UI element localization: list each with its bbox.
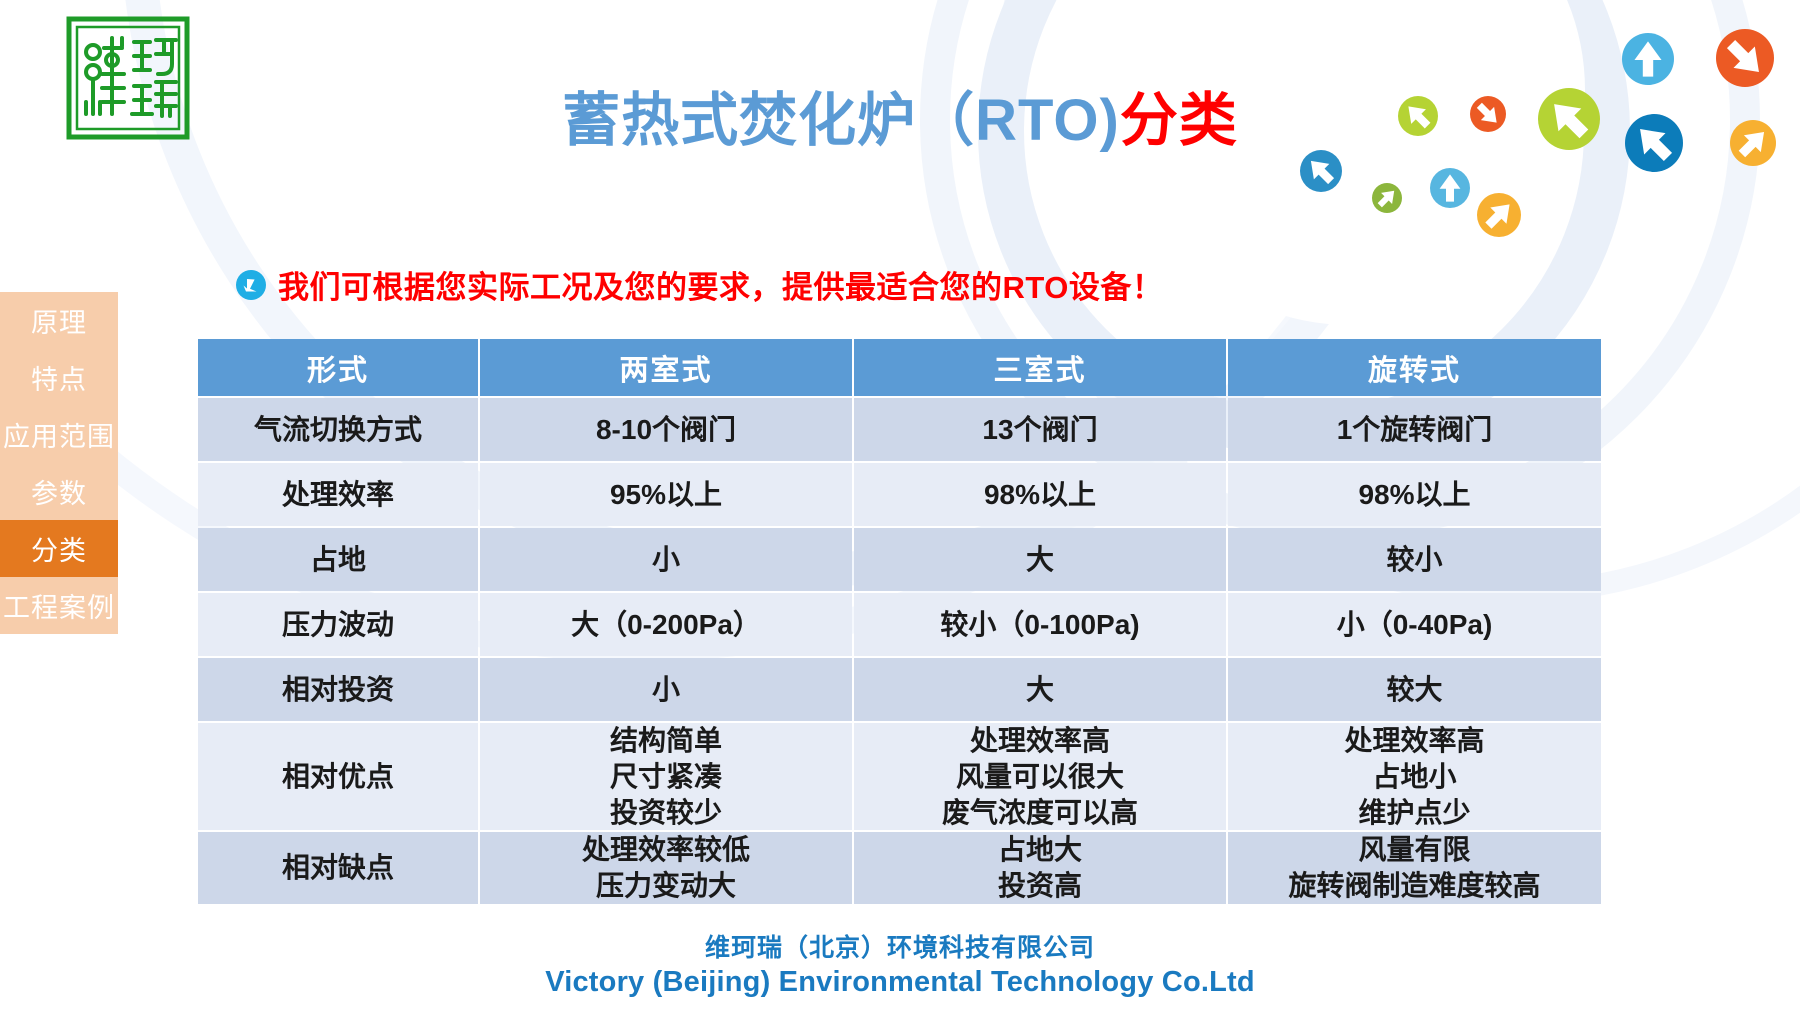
sidebar-item-label: 原理 [31,301,87,340]
table-cell-line: 处理效率高 [1234,723,1595,759]
sidebar-item-4[interactable]: 分类 [0,520,118,577]
table-cell-line: 风量可以很大 [860,759,1220,795]
sidebar-nav[interactable]: 原理特点应用范围参数分类工程案例 [0,292,118,634]
table-cell: 处理效率高占地小维护点少 [1228,723,1601,830]
table-cell-line: 废气浓度可以高 [860,795,1220,831]
table-cell-line: 98%以上 [1234,477,1595,513]
page-title: 蓄热式焚化炉（RTO)分类 [0,92,1800,150]
table-row-label: 气流切换方式 [198,398,478,461]
table-cell-line: 压力变动大 [486,868,846,904]
sidebar-item-5[interactable]: 工程案例 [0,577,118,634]
table-cell-line: 大 [860,542,1220,578]
table-cell: 处理效率高风量可以很大废气浓度可以高 [854,723,1226,830]
table-cell-line: 尺寸紧凑 [486,759,846,795]
table-cell-line: 较大 [1234,672,1595,708]
table-cell-line: 98%以上 [860,477,1220,513]
table-header-cell-0: 形式 [198,339,478,396]
table-cell: 小（0-40Pa) [1228,593,1601,656]
table-cell-line: 大（0-200Pa） [486,607,846,643]
subtitle-text: 我们可根据您实际工况及您的要求，提供最适合您的RTO设备！ [278,262,1163,307]
slide-canvas: 蓄热式焚化炉（RTO)分类 我们可根据您实际工况及您的要求，提供最适合您的RTO… [0,0,1800,1012]
table-cell-line: 小（0-40Pa) [1234,607,1595,643]
table-cell-line: 维护点少 [1234,795,1595,831]
table-cell-line: 处理效率较低 [486,832,846,868]
table-cell: 8-10个阀门 [480,398,852,461]
table-cell: 较大 [1228,658,1601,721]
table-cell: 大 [854,658,1226,721]
table-header-cell-1: 两室式 [480,339,852,396]
sidebar-item-2[interactable]: 应用范围 [0,406,118,463]
table-cell-line: 投资较少 [486,795,846,831]
sidebar-item-0[interactable]: 原理 [0,292,118,349]
table-cell-line: 小 [486,542,846,578]
arrow-down-right-circle-icon-orange [1716,29,1774,87]
table-header-cell-2: 三室式 [854,339,1226,396]
table-row: 气流切换方式8-10个阀门13个阀门1个旋转阀门 [198,398,1601,461]
sidebar-item-label: 分类 [31,529,87,568]
table-cell: 小 [480,658,852,721]
background-disc [1115,0,1585,325]
table-row: 处理效率95%以上98%以上98%以上 [198,463,1601,526]
table-cell: 大（0-200Pa） [480,593,852,656]
table-cell-line: 处理效率高 [860,723,1220,759]
footer: 维珂瑞（北京）环境科技有限公司 Victory (Beijing) Enviro… [0,932,1800,1001]
table-cell: 1个旋转阀门 [1228,398,1601,461]
arrow-up-right-circle-icon-amber [1477,193,1521,237]
table-cell: 大 [854,528,1226,591]
table-cell-line: 投资高 [860,868,1220,904]
rto-comparison-table: 形式两室式三室式旋转式 气流切换方式8-10个阀门13个阀门1个旋转阀门处理效率… [196,337,1603,906]
table-cell: 风量有限旋转阀制造难度较高 [1228,832,1601,904]
table-cell-line: 风量有限 [1234,832,1595,868]
table-cell-line: 较小 [1234,542,1595,578]
table-cell: 结构简单尺寸紧凑投资较少 [480,723,852,830]
table-cell-line: 小 [486,672,846,708]
table-cell: 98%以上 [1228,463,1601,526]
arrow-down-right-circle-icon [236,270,266,300]
sidebar-item-label: 特点 [31,358,87,397]
sidebar-item-1[interactable]: 特点 [0,349,118,406]
subtitle: 我们可根据您实际工况及您的要求，提供最适合您的RTO设备！ [236,262,1163,307]
table-row-label: 相对投资 [198,658,478,721]
table-row-label: 压力波动 [198,593,478,656]
footer-company-en: Victory (Beijing) Environmental Technolo… [0,964,1800,1001]
footer-company-cn: 维珂瑞（北京）环境科技有限公司 [0,932,1800,964]
table-row: 占地小大较小 [198,528,1601,591]
table-cell: 处理效率较低压力变动大 [480,832,852,904]
table-body: 气流切换方式8-10个阀门13个阀门1个旋转阀门处理效率95%以上98%以上98… [198,398,1601,904]
table-cell-line: 1个旋转阀门 [1234,412,1595,448]
arrow-up-circle-icon-sky [1622,33,1674,85]
sidebar-item-label: 应用范围 [3,415,115,454]
page-title-main: 蓄热式焚化炉（RTO) [562,88,1120,153]
table-row-label: 相对优点 [198,723,478,830]
table-cell-line: 8-10个阀门 [486,412,846,448]
table-cell: 占地大投资高 [854,832,1226,904]
table-cell-line: 占地大 [860,832,1220,868]
table-row: 相对投资小大较大 [198,658,1601,721]
table-row: 相对优点结构简单尺寸紧凑投资较少处理效率高风量可以很大废气浓度可以高处理效率高占… [198,723,1601,830]
page-title-accent: 分类 [1120,88,1238,153]
table-cell-line: 占地小 [1234,759,1595,795]
table-cell-line: 较小（0-100Pa) [860,607,1220,643]
table-cell: 98%以上 [854,463,1226,526]
arrow-up-right-circle-icon-green-small [1372,183,1402,213]
table-cell: 较小 [1228,528,1601,591]
arrow-up-left-circle-icon-blue-small [1300,150,1342,192]
table-cell: 小 [480,528,852,591]
table-cell-line: 结构简单 [486,723,846,759]
comparison-table-wrapper: 形式两室式三室式旋转式 气流切换方式8-10个阀门13个阀门1个旋转阀门处理效率… [196,337,1593,906]
table-header-cell-3: 旋转式 [1228,339,1601,396]
table-header-row: 形式两室式三室式旋转式 [198,339,1601,396]
table-cell-line: 大 [860,672,1220,708]
table-row-label: 相对缺点 [198,832,478,904]
table-row-label: 处理效率 [198,463,478,526]
sidebar-item-label: 工程案例 [3,586,115,625]
sidebar-item-label: 参数 [31,472,87,511]
arrow-up-circle-icon-lightblue [1430,168,1470,208]
table-cell: 13个阀门 [854,398,1226,461]
table-cell-line: 95%以上 [486,477,846,513]
table-row-label: 占地 [198,528,478,591]
table-row: 相对缺点处理效率较低压力变动大占地大投资高风量有限旋转阀制造难度较高 [198,832,1601,904]
table-cell: 95%以上 [480,463,852,526]
sidebar-item-3[interactable]: 参数 [0,463,118,520]
table-cell: 较小（0-100Pa) [854,593,1226,656]
table-cell-line: 13个阀门 [860,412,1220,448]
table-cell-line: 旋转阀制造难度较高 [1234,868,1595,904]
table-row: 压力波动大（0-200Pa）较小（0-100Pa)小（0-40Pa) [198,593,1601,656]
